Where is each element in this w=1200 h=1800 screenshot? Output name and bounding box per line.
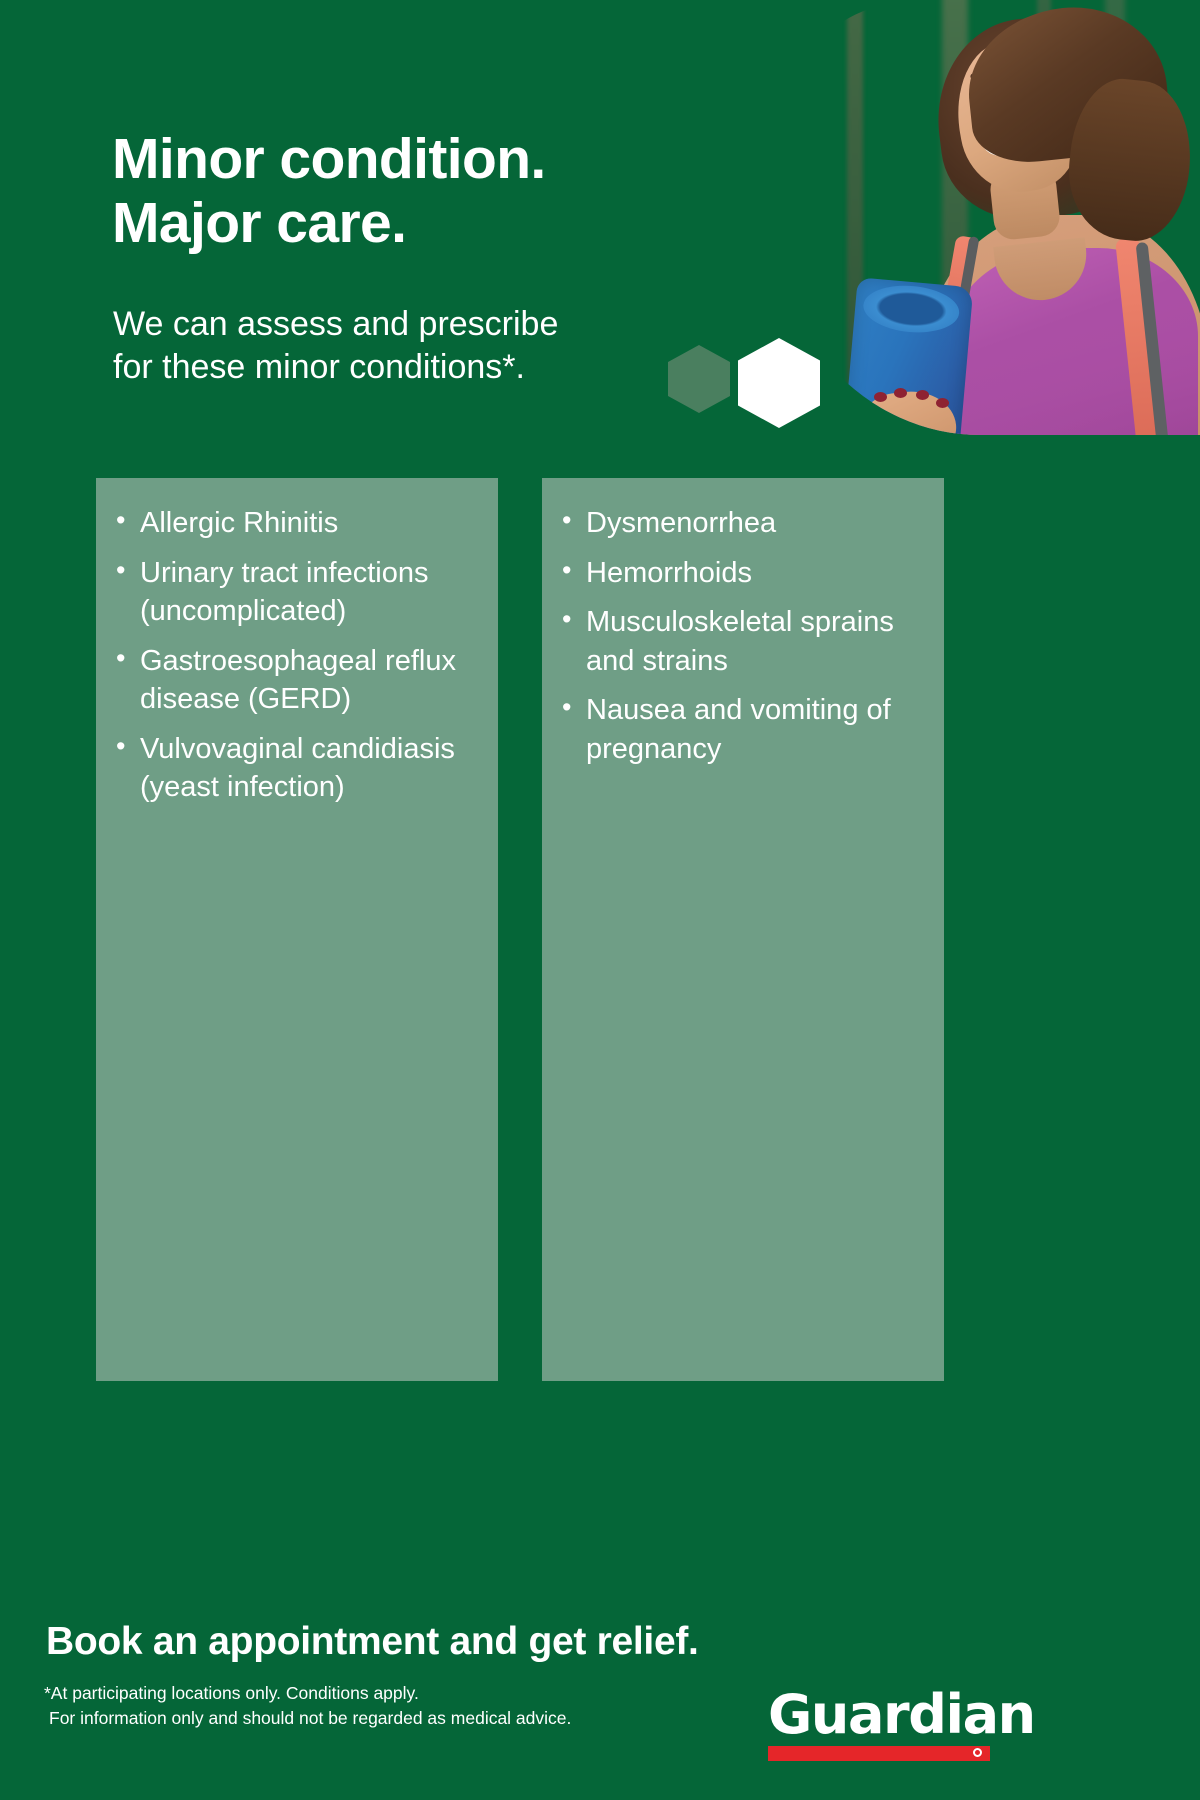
fingernail [936, 398, 949, 408]
list-item: Nausea and vomiting of pregnancy [560, 691, 926, 768]
woman-figure [770, 0, 1200, 435]
subheading-line-2: for these minor conditions*. [113, 346, 673, 389]
list-item: Urinary tract infections (uncomplicated) [114, 554, 480, 631]
hexagon-accent-sage [668, 345, 730, 413]
list-item: Allergic Rhinitis [114, 504, 480, 543]
hero-photo [770, 0, 1200, 435]
guardian-logo-wordmark: Guardian [768, 1688, 998, 1742]
page-title: Minor condition. Major care. [112, 128, 672, 256]
call-to-action-text: Book an appointment and get relief. [46, 1620, 699, 1664]
poster-root: Minor condition. Major care. We can asse… [0, 0, 1200, 1800]
headline-line-2: Major care. [112, 192, 672, 256]
list-item: Dysmenorrhea [560, 504, 926, 543]
legal-line-1: *At participating locations only. Condit… [44, 1681, 571, 1706]
subheading: We can assess and prescribe for these mi… [113, 303, 673, 389]
conditions-list-right: Dysmenorrhea Hemorrhoids Musculoskeletal… [560, 504, 926, 768]
list-item: Hemorrhoids [560, 554, 926, 593]
list-item: Gastroesophageal reflux disease (GERD) [114, 642, 480, 719]
fingernail [916, 390, 929, 400]
legal-line-2: For information only and should not be r… [44, 1706, 571, 1731]
conditions-list-left: Allergic Rhinitis Urinary tract infectio… [114, 504, 480, 807]
conditions-panel-left: Allergic Rhinitis Urinary tract infectio… [96, 478, 498, 1381]
list-item: Musculoskeletal sprains and strains [560, 603, 926, 680]
fingernail [894, 388, 907, 398]
subheading-line-1: We can assess and prescribe [113, 303, 673, 346]
guardian-logo: Guardian [768, 1688, 998, 1761]
legal-disclaimer: *At participating locations only. Condit… [44, 1681, 571, 1731]
registered-trademark-icon [973, 1748, 982, 1757]
conditions-panels: Allergic Rhinitis Urinary tract infectio… [96, 478, 944, 1381]
conditions-panel-right: Dysmenorrhea Hemorrhoids Musculoskeletal… [542, 478, 944, 1381]
guardian-logo-red-bar [768, 1746, 990, 1761]
fingernail [874, 392, 887, 402]
headline-line-1: Minor condition. [112, 128, 672, 192]
list-item: Vulvovaginal candidiasis (yeast infectio… [114, 730, 480, 807]
